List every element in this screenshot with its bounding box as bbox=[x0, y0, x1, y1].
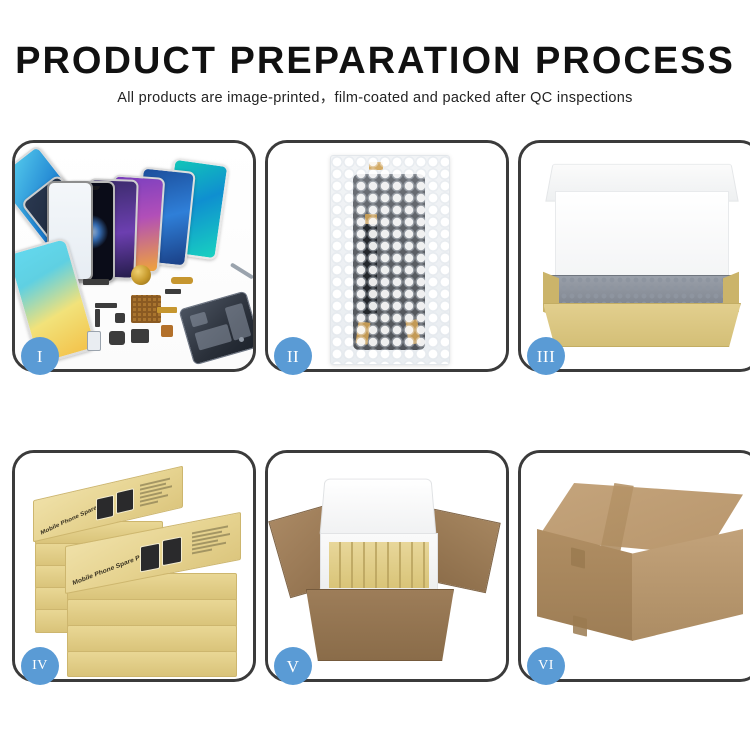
step-badge-2: II bbox=[274, 337, 312, 375]
process-step-panel-4[interactable]: Mobile Phone Spare Parts bbox=[12, 450, 256, 682]
sim-tray-icon bbox=[87, 331, 101, 351]
step-numeral: II bbox=[287, 348, 299, 365]
step-numeral: I bbox=[37, 348, 43, 365]
process-step-panel-5[interactable]: V bbox=[265, 450, 509, 682]
spare-parts-cluster bbox=[79, 263, 253, 363]
page-title: PRODUCT PREPARATION PROCESS bbox=[0, 40, 750, 82]
phone-back-housing-icon bbox=[178, 290, 253, 365]
box-art-screen-1a bbox=[96, 495, 114, 521]
white-foam-sheet-icon bbox=[555, 191, 729, 283]
flex-cable-3-icon bbox=[95, 309, 100, 327]
kraft-box-front-icon bbox=[543, 303, 741, 347]
yellow-boxes-inside-icon bbox=[329, 542, 429, 588]
process-step-panel-3[interactable]: III bbox=[518, 140, 750, 372]
step-badge-3: III bbox=[527, 337, 565, 375]
camera-lens-icon bbox=[131, 265, 151, 285]
screw-icon bbox=[239, 337, 244, 342]
speaker-icon bbox=[109, 331, 125, 345]
stacked-box-front-4 bbox=[67, 651, 237, 677]
box-spec-lines-2 bbox=[192, 525, 232, 557]
carton-body-icon bbox=[306, 589, 454, 661]
step-6-illustration bbox=[521, 453, 750, 679]
box-art-screen-1b bbox=[116, 488, 134, 514]
tape-tab-upper-icon bbox=[571, 547, 585, 568]
part-strip-icon bbox=[83, 279, 109, 285]
step-2-illustration bbox=[268, 143, 506, 369]
stacked-box-front-2 bbox=[67, 599, 237, 627]
styrofoam-box-icon bbox=[320, 533, 438, 597]
box-stack: Mobile Phone Spare Parts bbox=[29, 469, 245, 669]
step-5-illustration bbox=[268, 453, 506, 679]
step-badge-1: I bbox=[21, 337, 59, 375]
box-art-screen-2b bbox=[162, 536, 182, 566]
tape-tab-lower-icon bbox=[573, 615, 587, 636]
process-step-panel-6[interactable]: VI bbox=[518, 450, 750, 682]
gold-contact-icon bbox=[157, 307, 177, 313]
styrofoam-lid-icon bbox=[319, 479, 436, 538]
step-numeral: IV bbox=[32, 659, 48, 673]
step-badge-4: IV bbox=[21, 647, 59, 685]
step-numeral: III bbox=[537, 348, 555, 365]
step-numeral: VI bbox=[538, 659, 554, 673]
page-subtitle: All products are image-printed，film-coat… bbox=[0, 88, 750, 108]
step-1-illustration bbox=[15, 143, 253, 369]
step-3-illustration bbox=[521, 143, 750, 369]
copper-part-icon bbox=[161, 325, 173, 337]
bubble-wrap-bag-icon bbox=[330, 155, 450, 365]
vibrator-icon bbox=[131, 329, 149, 343]
flex-cable-2-icon bbox=[95, 303, 117, 308]
connector-gold-icon bbox=[171, 277, 193, 284]
product-preparation-process-infographic: PRODUCT PREPARATION PROCESS All products… bbox=[0, 0, 750, 750]
step-numeral: V bbox=[287, 658, 300, 675]
small-module-icon bbox=[115, 313, 125, 323]
bubble-texture-overlay bbox=[331, 156, 449, 364]
box-art-screen-2a bbox=[140, 543, 160, 573]
process-step-panel-1[interactable]: I bbox=[12, 140, 256, 372]
step-badge-6: VI bbox=[527, 647, 565, 685]
stacked-box-front-3 bbox=[67, 625, 237, 653]
step-badge-5: V bbox=[274, 647, 312, 685]
screwdriver-icon bbox=[230, 262, 253, 279]
process-step-panel-2[interactable]: II bbox=[265, 140, 509, 372]
process-steps-grid: I II bbox=[0, 136, 750, 696]
flex-cable-icon bbox=[165, 289, 181, 294]
box-spec-lines-1 bbox=[140, 477, 174, 509]
step-4-illustration: Mobile Phone Spare Parts bbox=[15, 453, 253, 679]
